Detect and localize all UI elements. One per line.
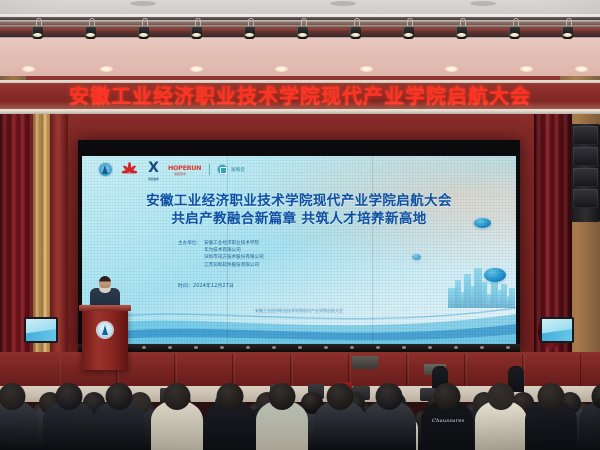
- side-monitor-right-screen: [542, 319, 572, 341]
- led-panel-seam: [372, 156, 373, 344]
- audience-member-head: [376, 383, 403, 410]
- ceiling-downlight: [100, 66, 113, 72]
- led-screen-bezel-bottom: [78, 344, 520, 352]
- decor-blob: [484, 268, 506, 282]
- huawei-logo-label: HUAWEI: [120, 172, 139, 175]
- screen-headline: 安徽工业经济职业技术学院现代产业学院启航大会 共启产教融合新篇章 共筑人才培养新…: [82, 192, 516, 229]
- led-bezel-bolt: [376, 346, 380, 349]
- audience-member: [421, 400, 473, 450]
- spotlight-hook: [513, 18, 519, 26]
- ceiling-downlight: [190, 66, 203, 72]
- ceiling-downlight: [275, 66, 288, 72]
- ceiling-downlight: [22, 66, 35, 72]
- spotlight-hook: [142, 18, 148, 26]
- audience-member-head: [106, 383, 133, 410]
- led-bezel-bolt: [454, 346, 458, 349]
- audience-member-head: [216, 383, 243, 410]
- led-bezel-bolt: [220, 346, 224, 349]
- spotlight-lens: [563, 33, 572, 37]
- spotlight-lens: [245, 33, 254, 37]
- track-spotlight: [403, 22, 414, 39]
- screen-title-line-2: 共启产教融合新篇章 共筑人才培养新高地: [82, 210, 516, 229]
- spotlight-lens: [139, 33, 148, 37]
- school-emblem-logo: [98, 162, 113, 177]
- huawei-logo: HUAWEI: [120, 162, 139, 177]
- spotlight-lens: [86, 33, 95, 37]
- track-spotlight: [562, 22, 573, 39]
- sponsor-logo-row: HUAWEI X 讯方技术 HOPERUN 润和软件 润和云: [98, 162, 245, 177]
- track-spotlight: [138, 22, 149, 39]
- audience-member-head: [0, 383, 26, 410]
- audience-member: [256, 400, 308, 450]
- led-bezel-bolt: [324, 346, 328, 349]
- audience-member-head: [327, 383, 354, 410]
- logo-divider: [209, 164, 210, 175]
- spotlight-lens: [33, 33, 42, 37]
- host-organization: 江苏润和软件股份有限公司: [204, 262, 378, 269]
- host-organization-list: 安徽工业经济职业技术学院华为技术有限公司深圳市讯方技术股份有限公司江苏润和软件股…: [204, 240, 378, 269]
- hall-banner: 安徽工业经济职业技术学院现代产业学院启航大会: [0, 80, 600, 114]
- ceiling-vent: [130, 1, 156, 6]
- speaker-podium: [82, 308, 128, 370]
- led-bezel-bolt: [142, 346, 146, 349]
- led-screen: HUAWEI X 讯方技术 HOPERUN 润和软件 润和云 安徽工业经济职业技…: [82, 156, 516, 344]
- audience-member-head: [487, 383, 514, 410]
- track-spotlight: [32, 22, 43, 39]
- event-date-line: 时间：2024年12月27日: [178, 282, 398, 289]
- audience-member-head: [538, 383, 565, 410]
- audience-member: [43, 400, 95, 450]
- side-monitor-right: [540, 317, 574, 343]
- spotlight-hook: [354, 18, 360, 26]
- led-bezel-bolt: [506, 346, 510, 349]
- audience: Chaussures: [0, 366, 600, 450]
- spotlight-lens: [298, 33, 307, 37]
- runhe-logo-label: 润和云: [231, 167, 245, 173]
- ceiling-downlight: [360, 66, 373, 72]
- host-organizations-block: 主办单位： 安徽工业经济职业技术学院华为技术有限公司深圳市讯方技术股份有限公司江…: [178, 240, 378, 269]
- led-bezel-bolt: [246, 346, 250, 349]
- track-spotlight: [191, 22, 202, 39]
- hoperun-logo: HOPERUN 润和软件: [168, 162, 202, 177]
- ceiling-vent: [470, 1, 496, 6]
- led-bezel-bolt: [298, 346, 302, 349]
- host-organization: 华为技术有限公司: [204, 247, 378, 254]
- audience-member: [0, 400, 38, 450]
- spotlight-lens: [351, 33, 360, 37]
- spotlight-hook: [36, 18, 42, 26]
- jacket-lettering: Chaussures: [432, 418, 465, 424]
- led-bezel-bolt: [402, 346, 406, 349]
- audience-member-head: [269, 383, 296, 410]
- banner-glow: [0, 101, 600, 109]
- ceiling-vent: [330, 1, 356, 6]
- spotlight-lens: [192, 33, 201, 37]
- stage-pillar: [50, 114, 68, 388]
- track-spotlight: [297, 22, 308, 39]
- spotlight-hook: [248, 18, 254, 26]
- led-bezel-bolt: [428, 346, 432, 349]
- spotlight-hook: [566, 18, 572, 26]
- runhe-logo: 润和云: [217, 164, 245, 175]
- led-panel-seam: [227, 156, 228, 344]
- audience-member-head: [433, 383, 460, 410]
- screen-title-line-1: 安徽工业经济职业技术学院现代产业学院启航大会: [82, 192, 516, 210]
- led-bezel-bolt: [168, 346, 172, 349]
- audience-member: [525, 400, 577, 450]
- podium-school-emblem: [97, 322, 113, 338]
- track-spotlight: [350, 22, 361, 39]
- line-array-speaker: [571, 124, 600, 222]
- side-monitor-left-screen: [26, 319, 56, 341]
- audience-member: [204, 400, 256, 450]
- led-bezel-bolt: [272, 346, 276, 349]
- spotlight-hook: [195, 18, 201, 26]
- side-monitor-left: [24, 317, 58, 343]
- track-spotlight: [85, 22, 96, 39]
- audience-member: [151, 400, 203, 450]
- spotlight-lens: [510, 33, 519, 37]
- decor-wave-group: [82, 298, 516, 344]
- partner-x-logo: X 讯方技术: [146, 162, 161, 177]
- track-spotlight: [456, 22, 467, 39]
- upper-wall-band: [0, 38, 600, 76]
- audience-member: [314, 400, 366, 450]
- hoperun-logo-sub: 润和软件: [174, 172, 202, 176]
- audience-row: [0, 422, 600, 450]
- decor-blob: [412, 254, 421, 260]
- podium-top: [79, 305, 131, 311]
- led-bezel-bolt: [350, 346, 354, 349]
- track-spotlight: [509, 22, 520, 39]
- audience-member: [475, 400, 527, 450]
- spotlight-hook: [407, 18, 413, 26]
- led-bezel-bolt: [480, 346, 484, 349]
- spotlight-hook: [301, 18, 307, 26]
- led-bezel-bolt: [194, 346, 198, 349]
- partner-x-logo-sub: 讯方技术: [144, 173, 163, 186]
- ceiling-downlight: [575, 66, 588, 72]
- host-organization: 深圳市讯方技术股份有限公司: [204, 254, 378, 261]
- spotlight-hook: [89, 18, 95, 26]
- spotlight-lens: [404, 33, 413, 37]
- decor-blob: [474, 218, 491, 228]
- host-label: 主办单位：: [178, 240, 201, 269]
- host-organization: 安徽工业经济职业技术学院: [204, 240, 378, 247]
- ceiling-downlight: [445, 66, 458, 72]
- track-spotlight: [244, 22, 255, 39]
- spotlight-hook: [460, 18, 466, 26]
- audience-member-head: [163, 383, 190, 410]
- spotlight-lens: [457, 33, 466, 37]
- photograph-conference-hall: 安徽工业经济职业技术学院现代产业学院启航大会 HUAWEI: [0, 0, 600, 450]
- audience-member: [363, 400, 415, 450]
- audience-member: [93, 400, 145, 450]
- ceiling-downlight: [520, 66, 533, 72]
- audience-member-head: [55, 383, 82, 410]
